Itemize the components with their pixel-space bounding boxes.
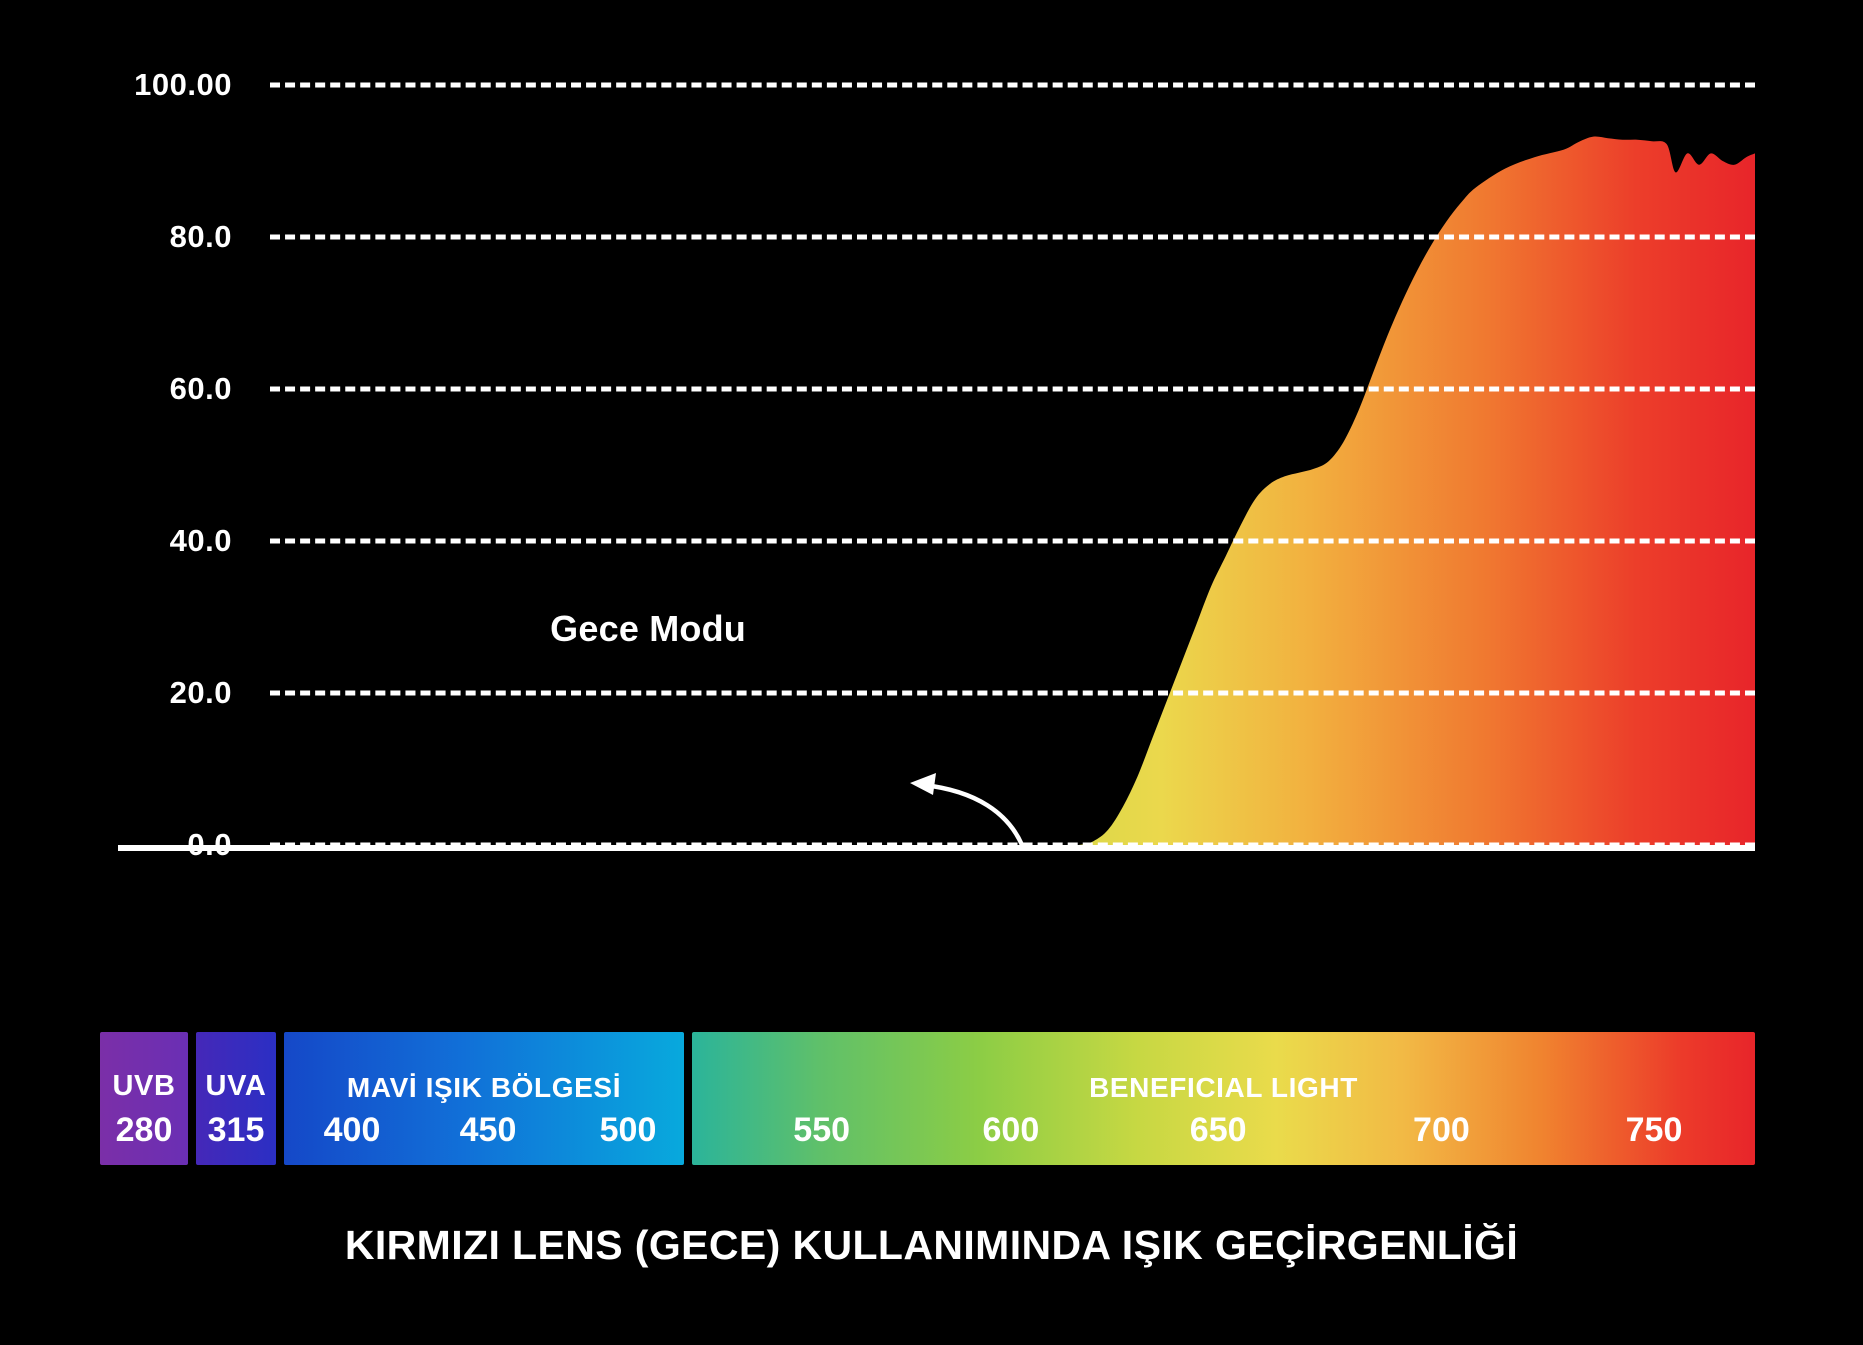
wavelength-tick: 700: [1413, 1111, 1470, 1150]
spectrum-segment-ticks: 550 600 650 700 750: [692, 1111, 1755, 1151]
gridline: [270, 83, 1755, 88]
spectrum-segment-blue-light[interactable]: MAVİ IŞIK BÖLGESİ 400 450 500: [284, 1032, 684, 1165]
wavelength-tick: 315: [208, 1111, 265, 1150]
spectrum-segment-uvb[interactable]: UVB 280: [100, 1032, 188, 1165]
spectrum-segment-ticks: 400 450 500: [284, 1111, 684, 1151]
y-tick-label: 100.00: [0, 67, 232, 103]
spectrum-segment-beneficial-light[interactable]: BENEFICIAL LIGHT 550 600 650 700 750: [692, 1032, 1755, 1165]
gridline: [270, 691, 1755, 696]
y-tick-label: 60.0: [0, 371, 232, 407]
gridline: [270, 539, 1755, 544]
wavelength-tick: 650: [1190, 1111, 1247, 1150]
gridline: [270, 235, 1755, 240]
annotation-arrow-icon: [880, 735, 1080, 865]
spectrum-segment-label: BENEFICIAL LIGHT: [692, 1072, 1755, 1104]
plot-area: [270, 85, 1755, 845]
wavelength-tick: 750: [1626, 1111, 1683, 1150]
wavelength-tick: 450: [460, 1111, 517, 1150]
spectrum-segment-label: MAVİ IŞIK BÖLGESİ: [284, 1072, 684, 1104]
chart-figure: 100.00 80.0 60.0 40.0 20.0 0.0: [0, 0, 1863, 1345]
spectrum-segment-ticks: 315: [196, 1111, 276, 1151]
spectrum-segment-label: UVB: [100, 1070, 188, 1103]
wavelength-tick: 400: [324, 1111, 381, 1150]
y-tick-label: 40.0: [0, 523, 232, 559]
annotation-label: Gece Modu: [546, 608, 746, 650]
spectrum-bar: UVB 280 UVA 315 MAVİ IŞIK BÖLGESİ 400 45…: [100, 1032, 1755, 1165]
wavelength-tick: 550: [793, 1111, 850, 1150]
y-tick-label: 80.0: [0, 219, 232, 255]
spectrum-segment-uva[interactable]: UVA 315: [196, 1032, 276, 1165]
chart-bottom-title: KIRMIZI LENS (GECE) KULLANIMINDA IŞIK GE…: [0, 1222, 1863, 1269]
wavelength-tick: 280: [116, 1111, 173, 1150]
gridlines: [270, 85, 1755, 845]
wavelength-tick: 600: [983, 1111, 1040, 1150]
gridline: [270, 387, 1755, 392]
wavelength-tick: 500: [600, 1111, 657, 1150]
y-tick-label: 20.0: [0, 675, 232, 711]
spectrum-segment-label: UVA: [196, 1070, 276, 1103]
spectrum-segment-ticks: 280: [100, 1111, 188, 1151]
